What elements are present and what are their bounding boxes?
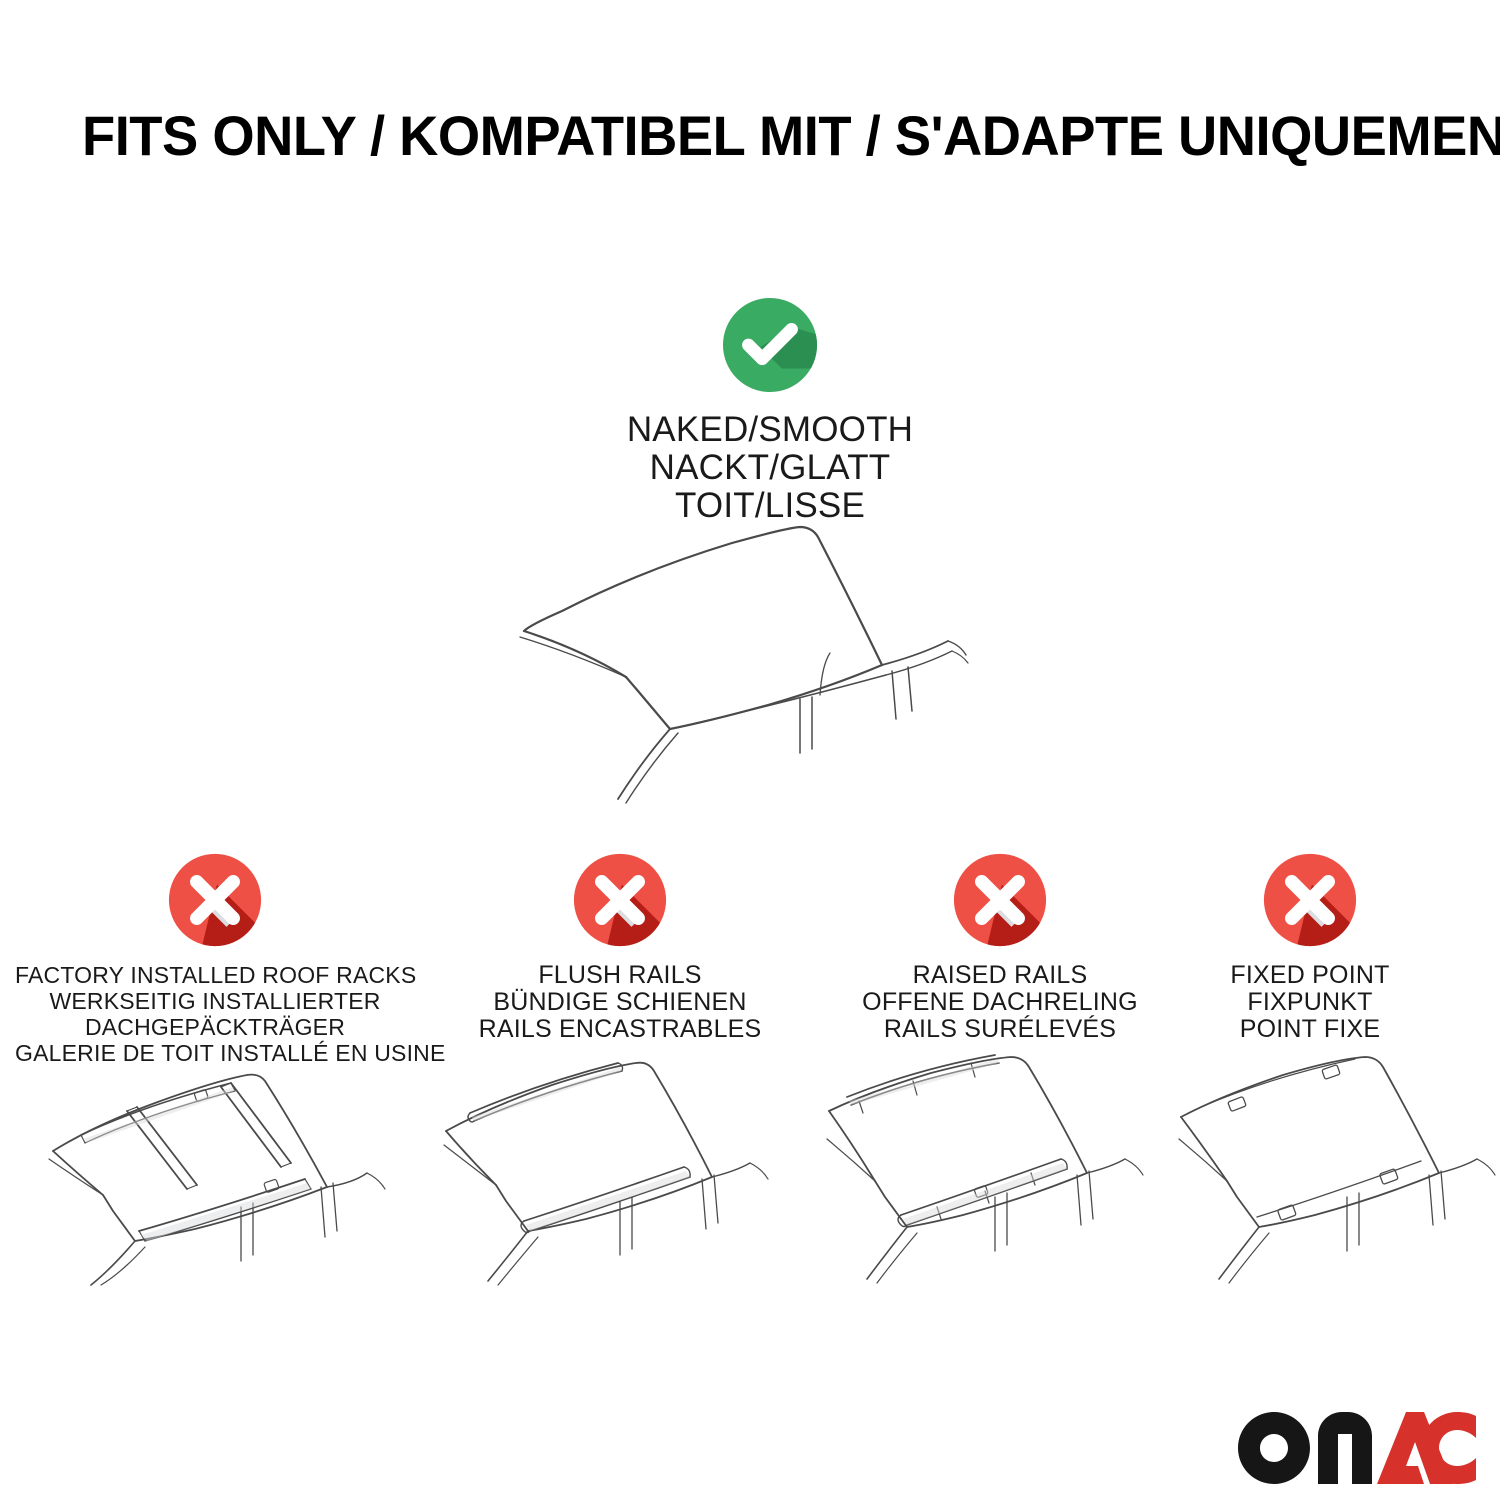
factory-roof-rack-drawing [35, 1055, 435, 1285]
incompatible-caption: FLUSH RAILS BÜNDIGE SCHIENEN RAILS ENCAS… [440, 962, 800, 1043]
caption-line: WERKSEITIG INSTALLIERTER [15, 988, 415, 1014]
caption-line: RAISED RAILS [820, 962, 1180, 989]
raised-rails-drawing [825, 1055, 1195, 1285]
check-badge [470, 296, 1070, 394]
cross-badge [15, 852, 415, 948]
compatible-roof-type: NAKED/SMOOTH NACKT/GLATT TOIT/LISSE [470, 296, 1070, 525]
incompatible-roof-type-factory-racks: FACTORY INSTALLED ROOF RACKS WERKSEITIG … [15, 852, 415, 1066]
caption-line: FLUSH RAILS [440, 962, 800, 989]
naked-smooth-roof-drawing [500, 515, 1020, 805]
cross-circle-icon [167, 852, 263, 948]
fitment-infographic: FITS ONLY / KOMPATIBEL MIT / S'ADAPTE UN… [0, 0, 1500, 1500]
incompatible-roof-type-raised-rails: RAISED RAILS OFFENE DACHRELING RAILS SUR… [820, 852, 1180, 1043]
cross-badge [1150, 852, 1470, 948]
cross-circle-icon [572, 852, 668, 948]
omac-logo [1238, 1412, 1476, 1484]
incompatible-roof-type-flush-rails: FLUSH RAILS BÜNDIGE SCHIENEN RAILS ENCAS… [440, 852, 800, 1043]
caption-line: NAKED/SMOOTH [470, 411, 1070, 449]
cross-badge [440, 852, 800, 948]
cross-badge [820, 852, 1180, 948]
compatible-caption: NAKED/SMOOTH NACKT/GLATT TOIT/LISSE [470, 411, 1070, 525]
incompatible-caption: RAISED RAILS OFFENE DACHRELING RAILS SUR… [820, 962, 1180, 1043]
caption-line: FIXED POINT [1150, 962, 1470, 989]
caption-line: DACHGEPÄCKTRÄGER [15, 1014, 415, 1040]
caption-line: RAILS SURÉLEVÉS [820, 1016, 1180, 1043]
caption-line: OFFENE DACHRELING [820, 989, 1180, 1016]
caption-line: FIXPUNKT [1150, 989, 1470, 1016]
cross-circle-icon [1262, 852, 1358, 948]
incompatible-caption: FACTORY INSTALLED ROOF RACKS WERKSEITIG … [15, 962, 415, 1066]
cross-circle-icon [952, 852, 1048, 948]
check-circle-icon [721, 296, 819, 394]
caption-line: BÜNDIGE SCHIENEN [440, 989, 800, 1016]
caption-line: NACKT/GLATT [470, 449, 1070, 487]
caption-line: POINT FIXE [1150, 1016, 1470, 1043]
caption-line: RAILS ENCASTRABLES [440, 1016, 800, 1043]
incompatible-roof-type-fixed-point: FIXED POINT FIXPUNKT POINT FIXE [1150, 852, 1470, 1043]
caption-line: FACTORY INSTALLED ROOF RACKS [15, 962, 415, 988]
flush-rails-drawing [440, 1055, 810, 1285]
fixed-point-drawing [1175, 1055, 1500, 1285]
incompatible-caption: FIXED POINT FIXPUNKT POINT FIXE [1150, 962, 1470, 1043]
page-title: FITS ONLY / KOMPATIBEL MIT / S'ADAPTE UN… [82, 108, 1382, 164]
omac-logo-mark [1238, 1412, 1476, 1484]
